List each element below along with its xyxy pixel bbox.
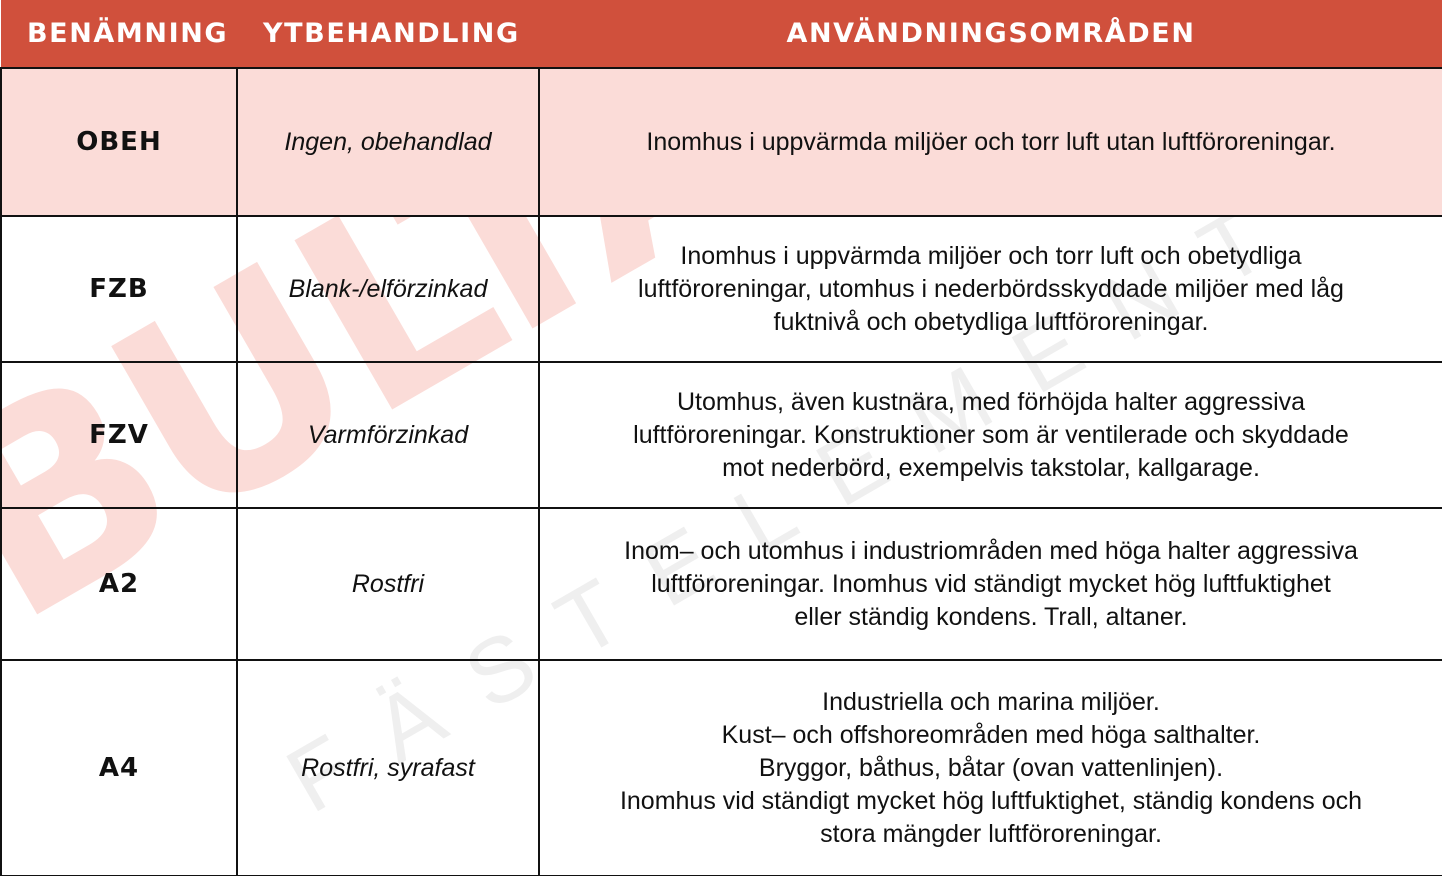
usage-line: eller ständig kondens. Trall, altaner. — [558, 601, 1424, 634]
usage-line: luftföroreningar. Konstruktioner som är … — [558, 419, 1424, 452]
usage-line: Kust– och offshoreområden med höga salth… — [558, 719, 1424, 752]
cell-code: A2 — [1, 508, 237, 660]
usage-line: Bryggor, båthus, båtar (ovan vattenlinje… — [558, 752, 1424, 785]
table-row: A4 Rostfri, syrafast Industriella och ma… — [1, 660, 1442, 876]
cell-code: FZV — [1, 362, 237, 508]
usage-line: Inomhus vid ständigt mycket hög luftfukt… — [558, 785, 1424, 818]
cell-usage: Inomhus i uppvärmda miljöer och torr luf… — [539, 216, 1442, 362]
column-header-benamning: BENÄMNING — [1, 0, 237, 68]
usage-line: Industriella och marina miljöer. — [558, 686, 1424, 719]
table-row: OBEH Ingen, obehandlad Inomhus i uppvärm… — [1, 68, 1442, 216]
usage-line: Inom– och utomhus i industriområden med … — [558, 535, 1424, 568]
cell-usage: Inom– och utomhus i industriområden med … — [539, 508, 1442, 660]
surface-treatment-table: BENÄMNING YTBEHANDLING ANVÄNDNINGSOMRÅDE… — [0, 0, 1442, 876]
table-container: BENÄMNING YTBEHANDLING ANVÄNDNINGSOMRÅDE… — [0, 0, 1442, 876]
table-header: BENÄMNING YTBEHANDLING ANVÄNDNINGSOMRÅDE… — [1, 0, 1442, 68]
table-row: A2 Rostfri Inom– och utomhus i industrio… — [1, 508, 1442, 660]
table-row: FZB Blank-/elförzinkad Inomhus i uppvärm… — [1, 216, 1442, 362]
usage-line: luftföroreningar. Inomhus vid ständigt m… — [558, 568, 1424, 601]
column-header-anvandningsomraden: ANVÄNDNINGSOMRÅDEN — [539, 0, 1442, 68]
usage-line: luftföroreningar, utomhus i nederbördssk… — [558, 273, 1424, 306]
column-header-ytbehandling: YTBEHANDLING — [237, 0, 539, 68]
cell-finish: Rostfri — [237, 508, 539, 660]
cell-usage: Industriella och marina miljöer. Kust– o… — [539, 660, 1442, 876]
cell-usage: Inomhus i uppvärmda miljöer och torr luf… — [539, 68, 1442, 216]
cell-finish: Blank-/elförzinkad — [237, 216, 539, 362]
usage-line: Inomhus i uppvärmda miljöer och torr luf… — [558, 126, 1424, 159]
surface-specification-table: BULTAB FÄSTELEMENT BENÄMNING YTBEHANDLIN… — [0, 0, 1442, 876]
cell-code: A4 — [1, 660, 237, 876]
table-body: OBEH Ingen, obehandlad Inomhus i uppvärm… — [1, 68, 1442, 876]
usage-line: Utomhus, även kustnära, med förhöjda hal… — [558, 386, 1424, 419]
cell-usage: Utomhus, även kustnära, med förhöjda hal… — [539, 362, 1442, 508]
cell-code: FZB — [1, 216, 237, 362]
table-row: FZV Varmförzinkad Utomhus, även kustnära… — [1, 362, 1442, 508]
usage-line: Inomhus i uppvärmda miljöer och torr luf… — [558, 240, 1424, 273]
table-header-row: BENÄMNING YTBEHANDLING ANVÄNDNINGSOMRÅDE… — [1, 0, 1442, 68]
cell-code: OBEH — [1, 68, 237, 216]
cell-finish: Varmförzinkad — [237, 362, 539, 508]
usage-line: stora mängder luftföroreningar. — [558, 818, 1424, 851]
usage-line: mot nederbörd, exempelvis takstolar, kal… — [558, 452, 1424, 485]
usage-line: fuktnivå och obetydliga luftföroreningar… — [558, 306, 1424, 339]
cell-finish: Rostfri, syrafast — [237, 660, 539, 876]
cell-finish: Ingen, obehandlad — [237, 68, 539, 216]
